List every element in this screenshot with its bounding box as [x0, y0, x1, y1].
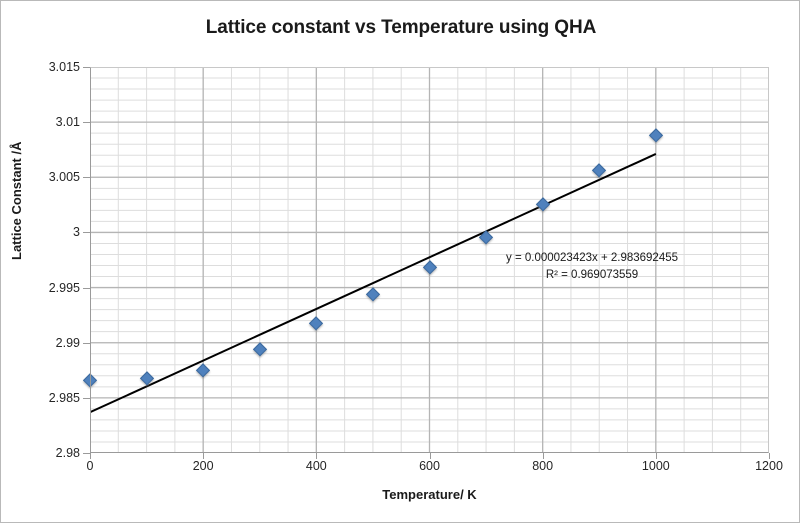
- data-point-marker: [253, 343, 266, 356]
- data-point-marker: [423, 260, 436, 273]
- data-point-marker: [649, 129, 662, 142]
- data-point-marker: [536, 197, 549, 210]
- data-point-marker: [366, 287, 379, 300]
- y-axis-tick-mark: [83, 67, 90, 68]
- chart-title: Lattice constant vs Temperature using QH…: [1, 17, 800, 39]
- y-axis-title: Lattice Constant /Å: [9, 142, 24, 260]
- x-axis-tick-mark: [203, 453, 204, 459]
- x-axis-tick-mark: [543, 453, 544, 459]
- x-axis-tick-label: 600: [390, 459, 470, 473]
- x-axis-tick-label: 200: [163, 459, 243, 473]
- y-axis-tick-mark: [83, 177, 90, 178]
- y-axis-tick-label: 2.98: [0, 446, 80, 460]
- data-point-marker: [479, 230, 492, 243]
- data-point-marker: [310, 316, 323, 329]
- y-axis-tick-mark: [83, 288, 90, 289]
- y-axis-tick-label: 3.015: [0, 60, 80, 74]
- data-point-marker: [140, 371, 153, 384]
- y-axis-tick-label: 3.01: [0, 115, 80, 129]
- x-axis-tick-label: 1000: [616, 459, 696, 473]
- trendline-equation-text: y = 0.000023423x + 2.983692455: [506, 250, 678, 267]
- y-axis-tick-label: 3: [0, 225, 80, 239]
- x-axis-tick-label: 1200: [729, 459, 800, 473]
- y-axis-tick-label: 2.985: [0, 391, 80, 405]
- x-axis-tick-mark: [656, 453, 657, 459]
- trendline-equation-annotation: y = 0.000023423x + 2.983692455 R² = 0.96…: [506, 250, 678, 283]
- data-point-marker: [593, 163, 606, 176]
- y-axis-tick-mark: [83, 398, 90, 399]
- data-point-marker: [196, 364, 209, 377]
- x-axis-tick-label: 0: [50, 459, 130, 473]
- y-axis-tick-mark: [83, 232, 90, 233]
- y-axis-tick-label: 2.995: [0, 281, 80, 295]
- y-axis-tick-mark: [83, 122, 90, 123]
- y-axis-tick-label: 2.99: [0, 336, 80, 350]
- trendline-r2-text: R² = 0.969073559: [506, 267, 678, 284]
- x-axis-tick-label: 800: [503, 459, 583, 473]
- y-axis-tick-label: 3.005: [0, 170, 80, 184]
- y-axis-tick-mark: [83, 343, 90, 344]
- x-axis-tick-label: 400: [276, 459, 356, 473]
- x-axis-tick-mark: [316, 453, 317, 459]
- x-axis-title: Temperature/ K: [90, 487, 769, 502]
- y-axis-tick-mark: [83, 453, 90, 454]
- x-axis-tick-mark: [769, 453, 770, 459]
- data-point-marker: [83, 373, 96, 386]
- x-axis-tick-mark: [90, 453, 91, 459]
- x-axis-tick-mark: [430, 453, 431, 459]
- chart-container: Lattice constant vs Temperature using QH…: [0, 0, 800, 523]
